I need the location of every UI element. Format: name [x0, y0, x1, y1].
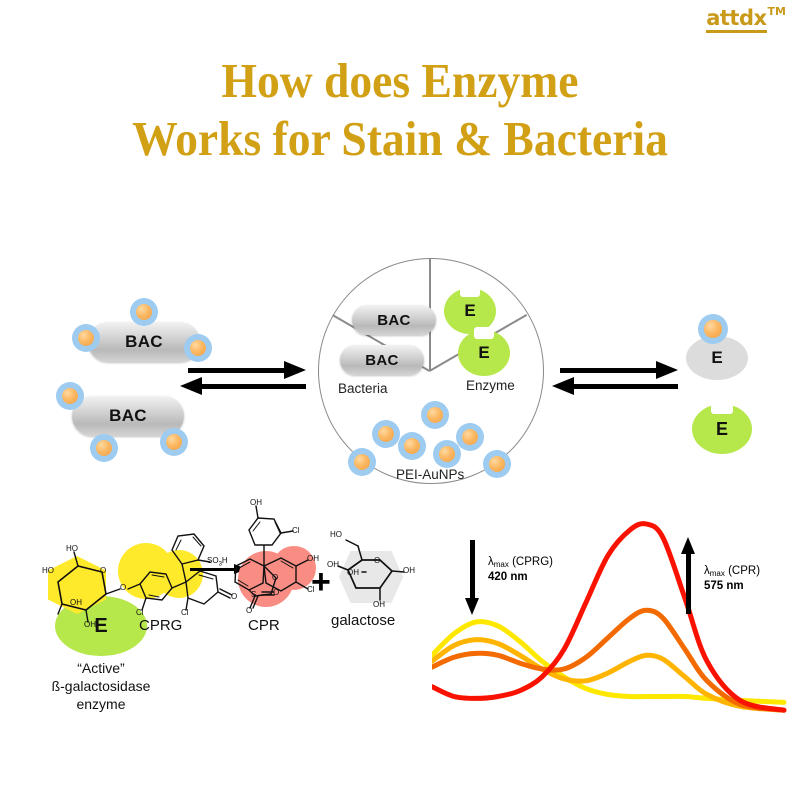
- atom-label-oh: OH: [250, 498, 262, 507]
- enzyme-label: E: [94, 615, 107, 638]
- absorbance-spectra-chart: [432, 512, 800, 762]
- spectra-curves: [432, 512, 800, 762]
- spectrum-curve: [432, 524, 784, 711]
- atom-label-o: O: [246, 606, 252, 615]
- atom-label-oh: OH: [307, 554, 319, 563]
- product-label-cpr: CPR: [248, 617, 280, 634]
- enzyme-label: E: [716, 419, 728, 440]
- enzyme-label: E: [464, 301, 475, 321]
- enzyme-caption-line-1: “Active”: [21, 659, 181, 677]
- atom-label-ho: HO: [66, 544, 78, 553]
- substrate-label-cprg: CPRG: [139, 617, 182, 634]
- down-arrow-head: [465, 598, 479, 615]
- atom-label-cl: Cl: [136, 608, 144, 617]
- coproduct-label-galactose: galactose: [331, 612, 395, 629]
- atom-label-o: O: [273, 588, 279, 597]
- enzyme-caption-line-2: ß-galactosidase: [21, 677, 181, 695]
- lambda-max-cprg-text: λmax (CPRG) 420 nm: [488, 555, 553, 584]
- atom-label-o: O: [231, 592, 237, 601]
- up-arrow-head: [681, 537, 695, 554]
- up-arrow-shaft: [686, 554, 691, 614]
- lambda-subscript: max: [710, 569, 725, 578]
- atom-label-s: S: [251, 590, 256, 599]
- atom-label-o: O: [272, 573, 278, 582]
- atom-label-cl: Cl: [292, 526, 300, 535]
- atom-label-oh: OH: [327, 560, 339, 569]
- atom-label-ho: HO: [330, 530, 342, 539]
- so3h-h: H: [222, 556, 228, 565]
- enzyme-caption: “Active” ß-galactosidase enzyme: [21, 659, 181, 714]
- atom-label-o: O: [120, 583, 126, 592]
- species-name: (CPRG): [512, 556, 553, 568]
- down-arrow-shaft: [470, 540, 475, 602]
- atom-label-o: O: [374, 556, 380, 565]
- atom-label-oh: OH: [403, 566, 415, 575]
- lambda-subscript: max: [494, 560, 509, 569]
- enzyme-caption-line-3: enzyme: [21, 695, 181, 713]
- enzyme-label: E: [478, 343, 489, 363]
- lambda-max-cpr-text: λmax (CPR) 575 nm: [704, 564, 760, 593]
- cpr-highlight-2: [272, 546, 316, 590]
- plus-sign: +: [311, 565, 331, 599]
- atom-label-o: O: [100, 566, 106, 575]
- so3h-text: SO: [207, 556, 219, 565]
- enzyme-label: E: [711, 348, 722, 368]
- atom-label-cl: Cl: [181, 608, 189, 617]
- atom-label-oh: OH: [70, 598, 82, 607]
- atom-label-oh: OH: [347, 568, 359, 577]
- galactose-highlight: [339, 551, 403, 603]
- atom-label-ho: HO: [42, 566, 54, 575]
- wavelength-value: 420 nm: [488, 570, 553, 584]
- reaction-arrow-shaft: [190, 568, 238, 571]
- atom-label-oh: OH: [373, 600, 385, 609]
- wavelength-value: 575 nm: [704, 579, 760, 593]
- species-name: (CPR): [728, 565, 760, 577]
